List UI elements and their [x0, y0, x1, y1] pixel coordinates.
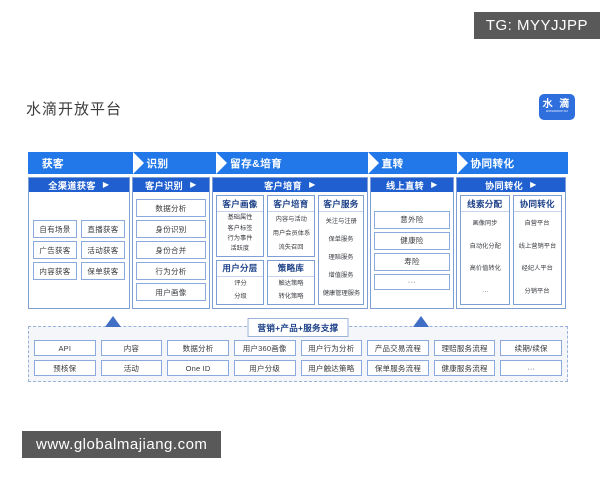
column-body: 客户画像基础属性客户标签行为事件活跃度客户培育内容与活动用户会员体系流失召回客户…: [213, 192, 367, 308]
stage-arrow-band: 获客识别留存&培育直转协同转化: [28, 152, 568, 174]
chip-item[interactable]: 身份合并: [136, 241, 206, 259]
group-item[interactable]: 触达策略: [279, 280, 304, 288]
group-item[interactable]: 画像同步: [472, 220, 497, 228]
support-cell[interactable]: 用户行为分析: [301, 340, 363, 356]
group-panel[interactable]: 客户培育内容与活动用户会员体系流失召回: [267, 195, 315, 257]
group-item[interactable]: 行为事件: [228, 235, 253, 243]
group-items: 画像同步自动化分配高价值转化···: [461, 212, 509, 304]
group-item[interactable]: 健康管理服务: [322, 290, 359, 298]
chip-item[interactable]: 身份识别: [136, 220, 206, 238]
group-title: 客户服务: [319, 196, 363, 212]
group-items: 触达策略转化策略: [268, 277, 314, 305]
group-panel[interactable]: 客户画像基础属性客户标签行为事件活跃度: [216, 195, 264, 257]
column-header[interactable]: 线上直转▶: [371, 178, 453, 192]
column-header[interactable]: 全渠道获客▶: [29, 178, 129, 192]
group-panel[interactable]: 策略库触达策略转化策略: [267, 260, 315, 306]
stage-chevron-icon: [368, 152, 379, 174]
column-header-label: 客户培育: [264, 179, 302, 192]
page-header: 水滴开放平台 水 滴 WATERDROP INC: [26, 98, 574, 128]
group-item[interactable]: 流失召回: [279, 244, 304, 252]
group-item[interactable]: 自动化分配: [469, 243, 500, 251]
play-icon: ▶: [530, 181, 537, 189]
column-body: 数据分析身份识别身份合并行为分析用户画像: [133, 192, 209, 308]
play-icon: ▶: [309, 181, 316, 189]
group-item[interactable]: ···: [482, 288, 488, 296]
group-item[interactable]: 客户标签: [228, 225, 253, 233]
chip-item[interactable]: 保单获客: [81, 262, 125, 280]
column-header[interactable]: 协同转化▶: [457, 178, 565, 192]
brand-logo-en: WATERDROP INC: [546, 110, 568, 114]
support-band: 营销+产品+服务支撑 API内容数据分析用户360画像用户行为分析产品交易流程理…: [28, 326, 568, 382]
group-item[interactable]: 分级: [234, 293, 246, 301]
site-watermark: www.globalmajiang.com: [22, 431, 221, 458]
group-row: 客户画像基础属性客户标签行为事件活跃度客户培育内容与活动用户会员体系流失召回客户…: [216, 195, 364, 257]
group-item[interactable]: 保单服务: [329, 236, 354, 244]
support-row: 预核保活动One ID用户分级用户触达策略保单服务流程健康服务流程···: [34, 360, 562, 376]
stage-1[interactable]: 获客: [28, 152, 133, 174]
column-header-label: 全渠道获客: [48, 179, 96, 192]
column-5: 协同转化▶线索分配画像同步自动化分配高价值转化···协同转化自营平台线上营销平台…: [456, 177, 566, 309]
pipeline-columns: 全渠道获客▶自有场景直播获客广告获客活动获客内容获客保单获客客户识别▶数据分析身…: [28, 177, 568, 309]
chip-item[interactable]: ···: [374, 274, 450, 290]
group-panel[interactable]: 协同转化自营平台线上营销平台经纪人平台分销平台: [513, 195, 563, 305]
chip-item[interactable]: 行为分析: [136, 262, 206, 280]
group-items: 基础属性客户标签行为事件活跃度: [217, 212, 263, 256]
stage-label: 留存&培育: [230, 156, 282, 171]
group-item[interactable]: 评分: [234, 280, 246, 288]
play-icon: ▶: [103, 181, 110, 189]
group-items: 评分分级: [217, 277, 263, 305]
column-header[interactable]: 客户培育▶: [213, 178, 367, 192]
support-row: API内容数据分析用户360画像用户行为分析产品交易流程理赔服务流程续期/续保: [34, 340, 562, 356]
brand-logo-cn: 水 滴: [543, 100, 572, 110]
stage-label: 协同转化: [471, 156, 515, 171]
support-cell[interactable]: 预核保: [34, 360, 96, 376]
column-2: 客户识别▶数据分析身份识别身份合并行为分析用户画像: [132, 177, 210, 309]
support-cell[interactable]: 用户分级: [234, 360, 296, 376]
chip-item[interactable]: 自有场景: [33, 220, 77, 238]
group-items: 内容与活动用户会员体系流失召回: [268, 212, 314, 256]
group-item[interactable]: 用户会员体系: [272, 230, 309, 238]
support-cell[interactable]: 用户360画像: [234, 340, 296, 356]
page-title: 水滴开放平台: [26, 98, 574, 119]
chip-item[interactable]: 意外险: [374, 211, 450, 229]
support-cell[interactable]: 续期/续保: [500, 340, 562, 356]
group-item[interactable]: 基础属性: [228, 214, 253, 222]
support-cell[interactable]: API: [34, 340, 96, 356]
stage-label: 直转: [382, 156, 404, 171]
support-band-label: 营销+产品+服务支撑: [248, 318, 349, 337]
support-cell[interactable]: 理赔服务流程: [434, 340, 496, 356]
group-title: 线索分配: [461, 196, 509, 212]
support-cell[interactable]: One ID: [167, 360, 229, 376]
chip-grid: 意外险健康险寿险···: [374, 195, 450, 305]
stage-label: 获客: [42, 156, 64, 171]
chip-item[interactable]: 内容获客: [33, 262, 77, 280]
support-grid: API内容数据分析用户360画像用户行为分析产品交易流程理赔服务流程续期/续保预…: [34, 340, 562, 376]
group-item[interactable]: 理赔服务: [329, 254, 354, 262]
column-body: 自有场景直播获客广告获客活动获客内容获客保单获客: [29, 192, 129, 308]
group-title: 客户画像: [217, 196, 263, 212]
stage-4[interactable]: 直转: [368, 152, 457, 174]
column-4: 线上直转▶意外险健康险寿险···: [370, 177, 454, 309]
support-cell[interactable]: 数据分析: [167, 340, 229, 356]
chip-item[interactable]: 活动获客: [81, 241, 125, 259]
chip-item[interactable]: 寿险: [374, 253, 450, 271]
stage-label: 识别: [147, 156, 169, 171]
group-item[interactable]: 经纪人平台: [522, 265, 553, 273]
group-item[interactable]: 高价值转化: [469, 265, 500, 273]
group-item[interactable]: 分销平台: [525, 288, 550, 296]
stage-3[interactable]: 留存&培育: [216, 152, 368, 174]
support-cell[interactable]: ···: [500, 360, 562, 376]
column-header-label: 线上直转: [386, 179, 424, 192]
group-items: 关注与注册保单服务理赔服务增值服务健康管理服务: [319, 212, 363, 304]
group-item[interactable]: 自营平台: [525, 220, 550, 228]
group-title: 用户分层: [217, 261, 263, 277]
group-item[interactable]: 关注与注册: [325, 218, 356, 226]
support-cell[interactable]: 用户触达策略: [301, 360, 363, 376]
support-cell[interactable]: 内容: [101, 340, 163, 356]
chip-item[interactable]: 直播获客: [81, 220, 125, 238]
group-item[interactable]: 增值服务: [329, 272, 354, 280]
chip-item[interactable]: 数据分析: [136, 199, 206, 217]
group-item[interactable]: 转化策略: [279, 293, 304, 301]
group-panel[interactable]: 线索分配画像同步自动化分配高价值转化···: [460, 195, 510, 305]
stage-5[interactable]: 协同转化: [457, 152, 568, 174]
column-header[interactable]: 客户识别▶: [133, 178, 209, 192]
group-wrapper: 线索分配画像同步自动化分配高价值转化···协同转化自营平台线上营销平台经纪人平台…: [460, 195, 562, 305]
group-row: 线索分配画像同步自动化分配高价值转化···协同转化自营平台线上营销平台经纪人平台…: [460, 195, 562, 305]
column-1: 全渠道获客▶自有场景直播获客广告获客活动获客内容获客保单获客: [28, 177, 130, 309]
column-body: 意外险健康险寿险···: [371, 192, 453, 308]
stage-chevron-icon: [216, 152, 227, 174]
play-icon: ▶: [190, 181, 197, 189]
column-3: 客户培育▶客户画像基础属性客户标签行为事件活跃度客户培育内容与活动用户会员体系流…: [212, 177, 368, 309]
group-items: 自营平台线上营销平台经纪人平台分销平台: [514, 212, 562, 304]
stage-chevron-icon: [457, 152, 468, 174]
chip-item[interactable]: 广告获客: [33, 241, 77, 259]
chip-item[interactable]: 用户画像: [136, 283, 206, 301]
support-cell[interactable]: 产品交易流程: [367, 340, 429, 356]
support-cell[interactable]: 保单服务流程: [367, 360, 429, 376]
group-item[interactable]: 内容与活动: [275, 216, 306, 224]
support-cell[interactable]: 活动: [101, 360, 163, 376]
group-panel[interactable]: 用户分层评分分级: [216, 260, 264, 306]
group-item[interactable]: 线上营销平台: [519, 243, 556, 251]
play-icon: ▶: [431, 181, 438, 189]
column-header-label: 协同转化: [485, 179, 523, 192]
chip-grid: 数据分析身份识别身份合并行为分析用户画像: [136, 195, 206, 305]
up-arrow-icon: [413, 316, 429, 327]
telegram-watermark: TG: MYYJJPP: [474, 12, 600, 39]
group-title: 客户培育: [268, 196, 314, 212]
chip-item[interactable]: 健康险: [374, 232, 450, 250]
group-item[interactable]: 活跃度: [231, 245, 250, 253]
group-panel[interactable]: 客户服务关注与注册保单服务理赔服务增值服务健康管理服务: [318, 195, 364, 305]
up-arrow-icon: [105, 316, 121, 327]
brand-logo: 水 滴 WATERDROP INC: [540, 95, 574, 119]
stage-chevron-icon: [133, 152, 144, 174]
group-title: 策略库: [268, 261, 314, 277]
group-title: 协同转化: [514, 196, 562, 212]
column-header-label: 客户识别: [145, 179, 183, 192]
chip-grid: 自有场景直播获客广告获客活动获客内容获客保单获客: [32, 195, 126, 305]
support-cell[interactable]: 健康服务流程: [434, 360, 496, 376]
column-body: 线索分配画像同步自动化分配高价值转化···协同转化自营平台线上营销平台经纪人平台…: [457, 192, 565, 308]
group-wrapper: 客户画像基础属性客户标签行为事件活跃度客户培育内容与活动用户会员体系流失召回客户…: [216, 195, 364, 305]
